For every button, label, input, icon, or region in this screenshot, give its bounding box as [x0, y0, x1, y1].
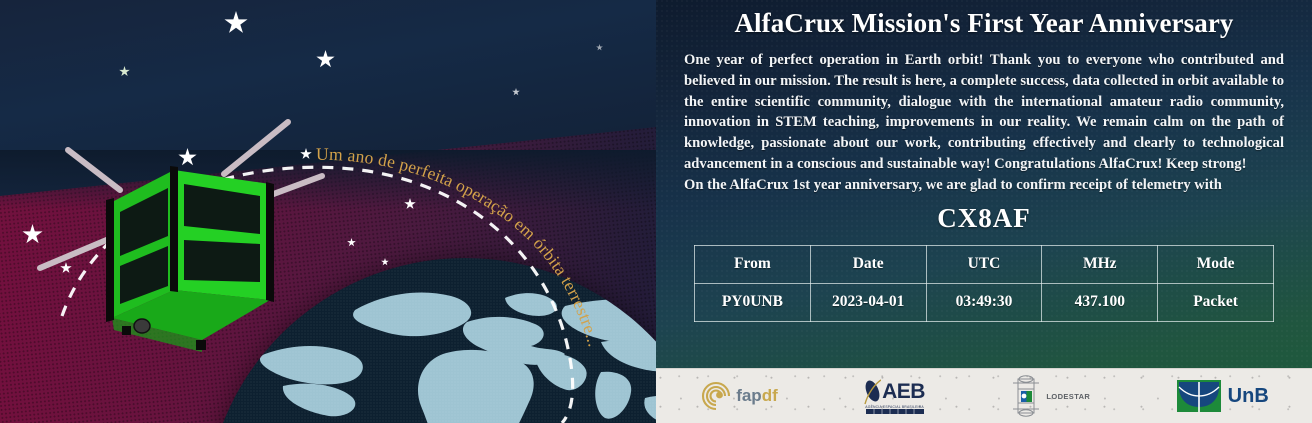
fapdf-spiral-icon [699, 379, 733, 413]
column-header-mhz: MHz [1042, 245, 1158, 283]
qsl-card: Um ano de perfeita operação em órbita te… [0, 0, 1312, 423]
aeb-logo: AEB AGÊNCIA ESPACIAL BRASILEIRA [864, 379, 925, 414]
unb-logo: UnB [1177, 380, 1269, 412]
mission-illustration: Um ano de perfeita operação em órbita te… [0, 0, 656, 423]
aeb-swoosh-icon [864, 379, 881, 405]
cubesat-satellite [74, 140, 334, 360]
callsign-heading: CX8AF [684, 203, 1284, 234]
cell-utc: 03:49:30 [926, 283, 1042, 321]
cell-from: PY0UNB [695, 283, 811, 321]
aeb-wordmark: AEB [882, 380, 925, 404]
unb-wordmark: UnB [1228, 385, 1269, 408]
page-title: AlfaCrux Mission's First Year Anniversar… [684, 8, 1284, 39]
table-header-row: From Date UTC MHz Mode [695, 245, 1274, 283]
qsl-table-wrapper: From Date UTC MHz Mode PY0UNB 2023-04-01… [684, 245, 1284, 322]
cell-mhz: 437.100 [1042, 283, 1158, 321]
fapdf-logo: fapdf [699, 379, 778, 413]
star [224, 11, 248, 35]
lodestar-structure-icon [1011, 375, 1041, 417]
column-header-date: Date [810, 245, 926, 283]
message-final-line: On the AlfaCrux 1st year anniversary, we… [684, 175, 1284, 196]
sponsor-logo-strip: fapdf AEB AGÊNCIA ESPACIAL BRASILEIRA [656, 368, 1312, 423]
star [316, 50, 335, 69]
message-panel: AlfaCrux Mission's First Year Anniversar… [656, 0, 1312, 423]
lodestar-logo: LODESTAR [1011, 375, 1090, 417]
cell-date: 2023-04-01 [810, 283, 926, 321]
unb-mark-icon [1177, 380, 1221, 412]
column-header-utc: UTC [926, 245, 1042, 283]
star [512, 88, 520, 96]
column-header-from: From [695, 245, 811, 283]
message-paragraph: One year of perfect operation in Earth o… [684, 50, 1284, 196]
message-body: One year of perfect operation in Earth o… [684, 52, 1284, 172]
fapdf-wordmark: fapdf [736, 386, 778, 406]
star [596, 44, 603, 51]
cubesat-icon [74, 140, 334, 360]
telemetry-table: From Date UTC MHz Mode PY0UNB 2023-04-01… [694, 245, 1274, 322]
cell-mode: Packet [1158, 283, 1274, 321]
lodestar-wordmark: LODESTAR [1046, 392, 1090, 401]
aeb-banner-icon [866, 409, 924, 414]
column-header-mode: Mode [1158, 245, 1274, 283]
table-row: PY0UNB 2023-04-01 03:49:30 437.100 Packe… [695, 283, 1274, 321]
star [119, 66, 130, 77]
